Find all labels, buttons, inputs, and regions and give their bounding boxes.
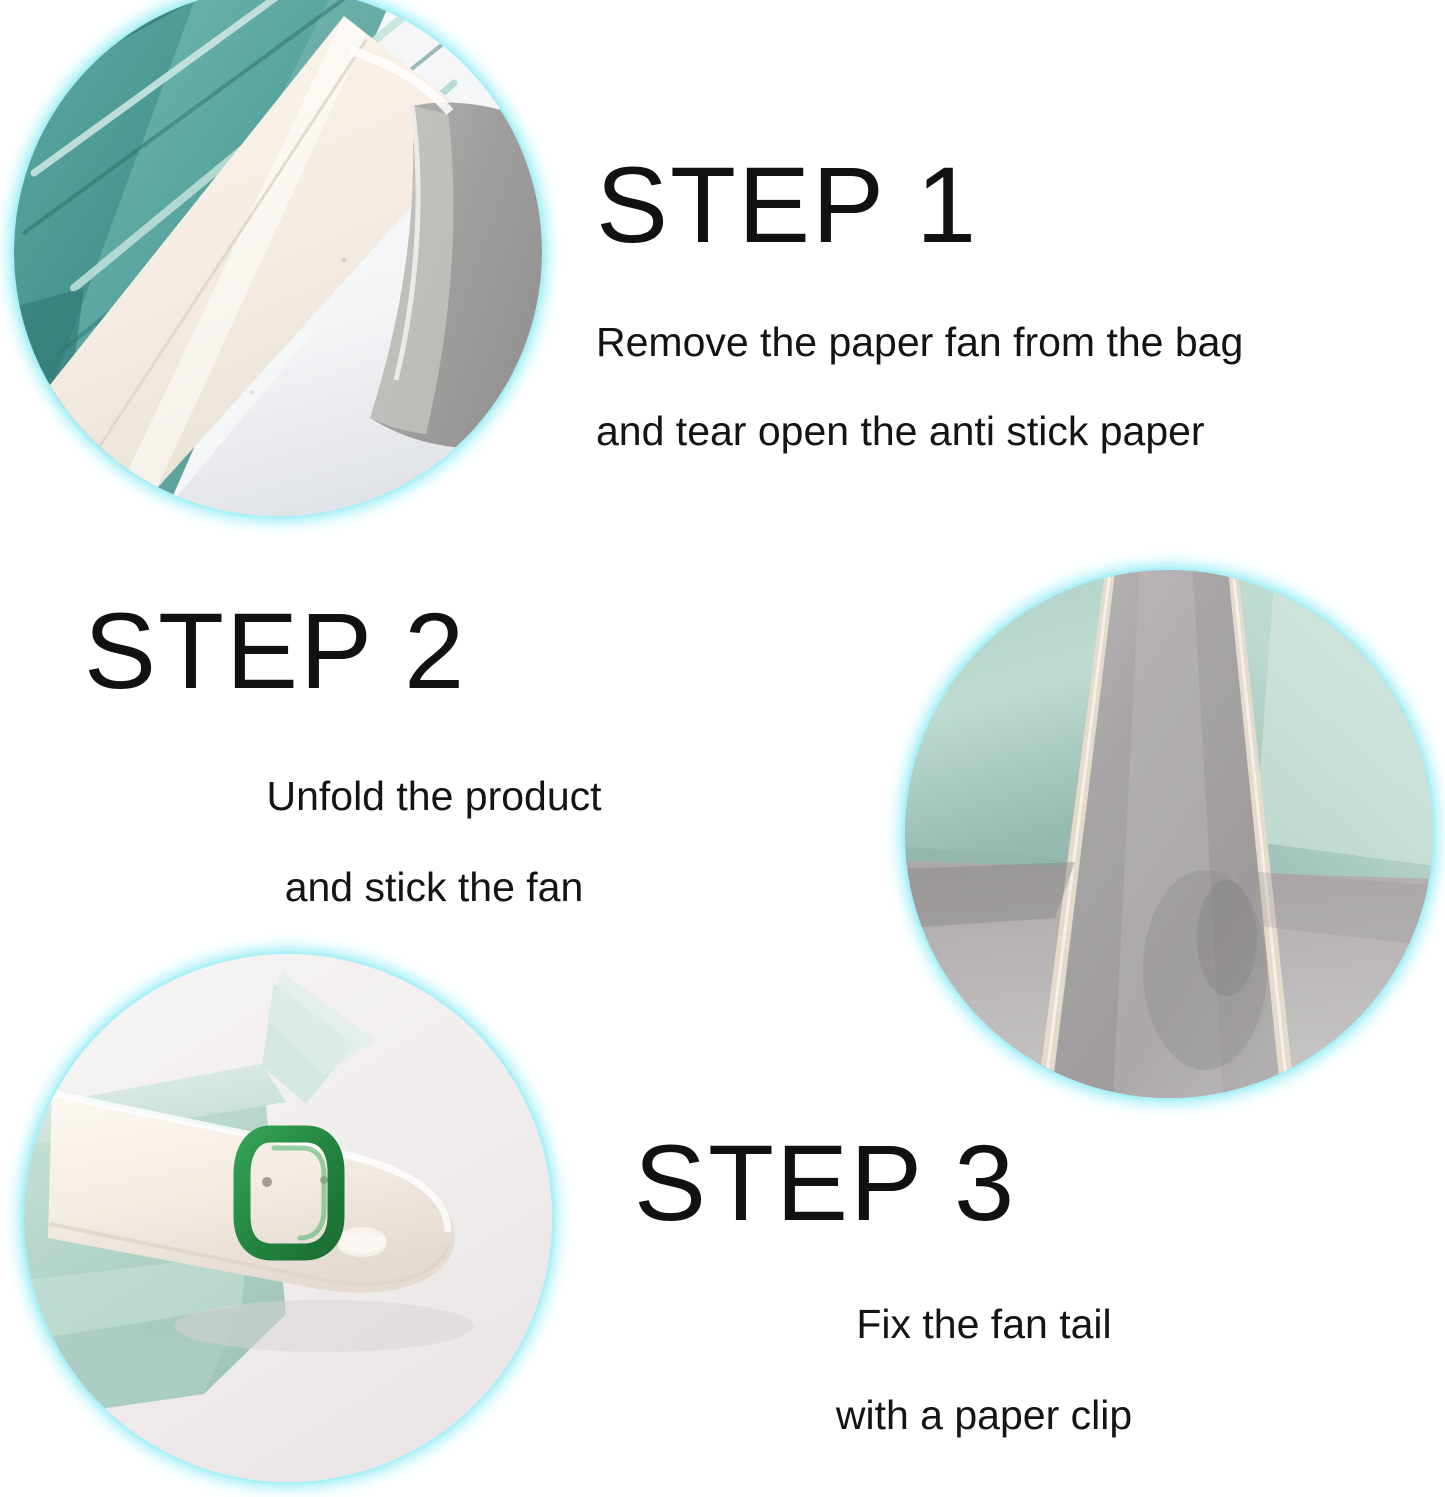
step-3-photo-scene	[24, 954, 552, 1482]
step-1-line-2: and tear open the anti stick paper	[596, 411, 1243, 452]
step-1-photo-scene	[14, 0, 542, 516]
step-1-text-block: STEP 1 Remove the paper fan from the bag…	[596, 150, 1243, 452]
step-2-text-block: STEP 2 Unfold the product and stick the …	[84, 596, 784, 908]
step-3-line-2: with a paper clip	[634, 1395, 1334, 1436]
step-3-photo	[24, 954, 552, 1482]
step-1-line-1: Remove the paper fan from the bag	[596, 322, 1243, 363]
instruction-steps-page: STEP 1 Remove the paper fan from the bag…	[0, 0, 1445, 1497]
step-3-line-1: Fix the fan tail	[634, 1304, 1334, 1345]
step-2-line-1: Unfold the product	[84, 776, 784, 817]
step-3-heading: STEP 3	[634, 1128, 1334, 1238]
step-2-photo	[905, 570, 1433, 1098]
unfolded-fan-illustration	[905, 570, 1433, 1098]
step-1-photo	[14, 0, 542, 516]
step-2-photo-scene	[905, 570, 1433, 1098]
fan-folds-illustration	[14, 0, 542, 516]
step-2-heading: STEP 2	[84, 596, 784, 706]
fan-tail-clip-illustration	[24, 954, 552, 1482]
step-2-line-2: and stick the fan	[84, 867, 784, 908]
step-3-text-block: STEP 3 Fix the fan tail with a paper cli…	[634, 1128, 1334, 1436]
step-1-heading: STEP 1	[596, 150, 1243, 260]
